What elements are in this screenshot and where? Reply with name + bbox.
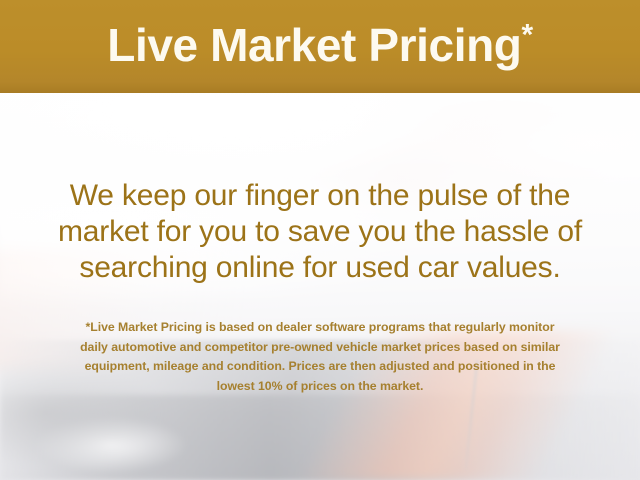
live-market-pricing-slide: Live Market Pricing* We keep our finger …	[0, 0, 640, 480]
headline-line-2: market for you to save you the hassle of	[0, 214, 640, 250]
background-body-panel-lower	[0, 395, 640, 480]
header-band: Live Market Pricing*	[0, 0, 640, 93]
headline-line-3: searching online for used car values.	[0, 250, 640, 286]
disclaimer-line-3: equipment, mileage and condition. Prices…	[28, 357, 612, 377]
disclaimer-line-1: *Live Market Pricing is based on dealer …	[28, 318, 612, 338]
page-title-text: Live Market Pricing	[107, 19, 521, 71]
disclaimer-line-2: daily automotive and competitor pre-owne…	[28, 338, 612, 358]
disclaimer-text: *Live Market Pricing is based on dealer …	[28, 318, 612, 396]
headline: We keep our finger on the pulse of the m…	[0, 178, 640, 286]
disclaimer-line-4: lowest 10% of prices on the market.	[28, 377, 612, 397]
headline-line-1: We keep our finger on the pulse of the	[0, 178, 640, 214]
page-title: Live Market Pricing*	[107, 22, 533, 68]
title-asterisk: *	[521, 18, 532, 51]
